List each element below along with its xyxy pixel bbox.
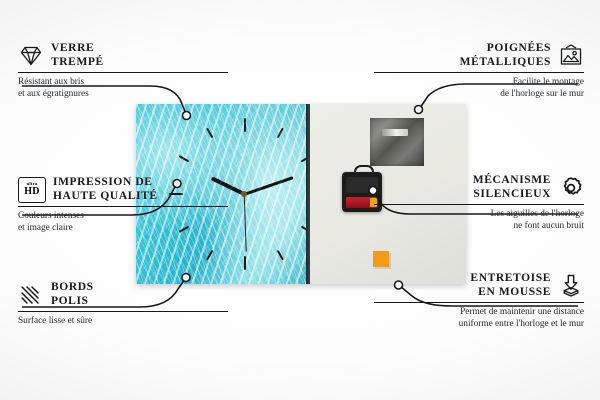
feature-header: VERRE TREMPÉ <box>18 42 228 69</box>
feature-title-line1: VERRE <box>51 42 104 56</box>
feature-desc-line2: et aux égratignures <box>18 88 228 100</box>
clock-tick <box>206 128 213 139</box>
feature-title-line1: ENTRETOISE <box>470 272 551 286</box>
metal-hanger-plate <box>370 118 424 166</box>
feature-desc-line2: uniforme entre l'horloge et le mur <box>374 318 584 330</box>
feature-rule <box>18 206 228 207</box>
feature-description: Résistant aux bris et aux égratignures <box>18 76 228 100</box>
feature-description: Couleurs intenses et image claire <box>18 210 228 234</box>
feature-desc-line1: Résistant aux bris <box>18 76 228 88</box>
mechanism-hook <box>354 165 374 177</box>
feature-description: Permet de maintenir une distance uniform… <box>374 306 584 330</box>
feature-title: BORDS POLIS <box>51 281 94 308</box>
feature-title: MÉCANISME SILENCIEUX <box>473 174 551 201</box>
feature-desc-line1: Les aiguilles de l'horloge <box>374 208 584 220</box>
feature-title-line2: POLIS <box>51 295 94 309</box>
feature-title: ENTRETOISE EN MOUSSE <box>470 272 551 299</box>
feature-mecanisme-silencieux: MÉCANISME SILENCIEUX Les aiguilles de l'… <box>374 174 584 232</box>
clock-minute-hand <box>244 176 294 196</box>
feature-title-line2: HAUTE QUALITÉ <box>53 190 158 204</box>
feature-desc-line2: ne font aucun bruit <box>374 220 584 232</box>
feature-entretoise-en-mousse: ENTRETOISE EN MOUSSE Permet de maintenir… <box>374 272 584 330</box>
picture-frame-hanger-icon <box>558 43 584 69</box>
clock-tick <box>206 250 213 261</box>
gear-icon <box>558 175 584 201</box>
feature-rule <box>18 311 228 312</box>
diamond-icon <box>18 43 44 69</box>
hanger-slot <box>382 129 408 136</box>
feature-description: Surface lisse et sûre <box>18 315 228 327</box>
feature-header: ENTRETOISE EN MOUSSE <box>374 272 584 299</box>
feature-desc-line2: et image claire <box>18 222 228 234</box>
feature-description: Les aiguilles de l'horloge ne font aucun… <box>374 208 584 232</box>
feature-title: VERRE TREMPÉ <box>51 42 104 69</box>
feature-title: POIGNÉES MÉTALLIQUES <box>460 42 551 69</box>
down-arrow-pad-icon <box>558 273 584 299</box>
feature-desc-line1: Couleurs intenses <box>18 210 228 222</box>
feature-header: POIGNÉES MÉTALLIQUES <box>374 42 584 69</box>
feature-title-line2: SILENCIEUX <box>473 188 551 202</box>
clock-center-pin <box>241 191 247 197</box>
feature-rule <box>18 72 228 73</box>
feature-rule <box>374 302 584 303</box>
feature-impression-haute-qualite: ultra HD IMPRESSION DE HAUTE QUALITÉ Cou… <box>18 176 228 234</box>
feature-title: IMPRESSION DE HAUTE QUALITÉ <box>53 176 158 203</box>
feature-header: MÉCANISME SILENCIEUX <box>374 174 584 201</box>
feature-bords-polis: BORDS POLIS Surface lisse et sûre <box>18 281 228 327</box>
feature-title-line1: MÉCANISME <box>473 174 551 188</box>
feature-title-line1: POIGNÉES <box>460 42 551 56</box>
feature-description: Facilite le montage de l'horloge sur le … <box>374 76 584 100</box>
infographic-canvas: VERRE TREMPÉ Résistant aux bris et aux é… <box>0 0 600 400</box>
feature-poignees-metalliques: POIGNÉES MÉTALLIQUES Facilite le montage… <box>374 42 584 100</box>
clock-second-hand <box>243 194 246 252</box>
feature-desc-line1: Facilite le montage <box>374 76 584 88</box>
clock-tick <box>179 155 190 162</box>
clock-tick <box>244 118 246 132</box>
polished-edge-icon <box>18 282 44 308</box>
feature-desc-line1: Permet de maintenir une distance <box>374 306 584 318</box>
feature-verre-trempe: VERRE TREMPÉ Résistant aux bris et aux é… <box>18 42 228 100</box>
feature-rule <box>374 72 584 73</box>
feature-header: ultra HD IMPRESSION DE HAUTE QUALITÉ <box>18 176 228 203</box>
clock-tick <box>277 128 284 139</box>
feature-header: BORDS POLIS <box>18 281 228 308</box>
feature-title-line2: EN MOUSSE <box>470 286 551 300</box>
feature-title-line2: MÉTALLIQUES <box>460 56 551 70</box>
feature-desc-line1: Surface lisse et sûre <box>18 315 228 327</box>
feature-title-line1: IMPRESSION DE <box>53 176 158 190</box>
feature-rule <box>374 204 584 205</box>
foam-spacer <box>373 251 389 267</box>
ultra-hd-icon: ultra HD <box>18 177 46 203</box>
feature-title-line1: BORDS <box>51 281 94 295</box>
feature-desc-line2: de l'horloge sur le mur <box>374 88 584 100</box>
clock-tick <box>244 256 246 270</box>
ultra-hd-large-text: HD <box>24 187 40 197</box>
feature-title-line2: TREMPÉ <box>51 56 104 70</box>
clock-tick <box>277 250 284 261</box>
